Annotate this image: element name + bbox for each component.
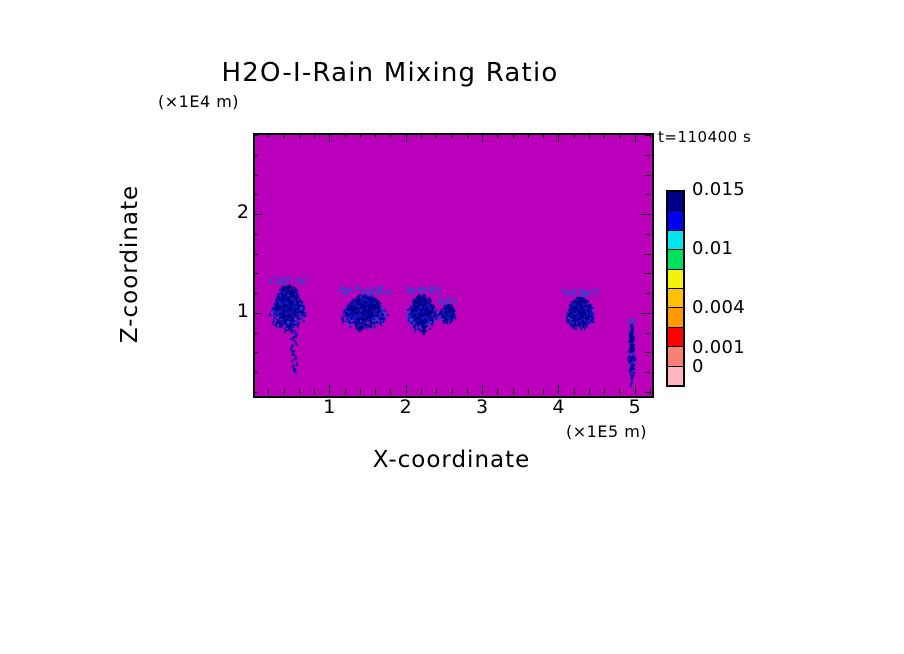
x-tick-minor-top [436, 133, 437, 138]
colorbar-swatch [668, 328, 683, 347]
colorbar-tick-label: 0.015 [692, 179, 745, 200]
y-tick-minor [253, 155, 258, 156]
x-tick-minor [497, 389, 498, 394]
x-axis-title: X-coordinate [253, 447, 650, 473]
x-tick-minor-top [284, 133, 285, 138]
y-tick-minor-right [645, 372, 650, 373]
y-tick-minor [253, 293, 258, 294]
y-tick-minor-right [645, 352, 650, 353]
x-tick-minor-top [497, 133, 498, 138]
x-tick-minor-top [589, 133, 590, 138]
y-tick-minor [253, 175, 258, 176]
x-axis-unit-label: (×1E5 m) [566, 422, 647, 441]
y-tick-major [253, 214, 262, 215]
x-tick-minor-top [421, 133, 422, 138]
y-tick-minor [253, 333, 258, 334]
y-tick-minor-right [645, 175, 650, 176]
colorbar-swatch [668, 367, 683, 385]
colorbar-tick-label: 0.001 [692, 337, 745, 358]
y-tick-minor-right [645, 293, 650, 294]
colorbar [666, 190, 685, 387]
x-tick-minor [314, 389, 315, 394]
x-tick-minor [513, 389, 514, 394]
x-tick-minor-top [619, 133, 620, 138]
colorbar-swatch [668, 270, 683, 289]
x-tick-minor-top [390, 133, 391, 138]
y-axis-title: Z-coordinate [117, 114, 143, 414]
y-tick-minor [253, 254, 258, 255]
colorbar-tick-label: 0 [692, 356, 704, 377]
x-tick-minor [299, 389, 300, 394]
y-tick-minor [253, 372, 258, 373]
colorbar-swatch [668, 347, 683, 366]
timestamp-annotation: t=110400 s [658, 128, 751, 146]
x-tick-minor [452, 389, 453, 394]
x-tick-minor [360, 389, 361, 394]
x-tick-minor [528, 389, 529, 394]
x-tick-minor [268, 389, 269, 394]
x-tick-minor [650, 389, 651, 394]
x-tick-major [482, 385, 483, 394]
x-tick-label: 1 [309, 396, 349, 418]
x-tick-major [635, 385, 636, 394]
x-tick-major-top [329, 133, 330, 142]
x-tick-label: 5 [615, 396, 655, 418]
x-tick-minor [436, 389, 437, 394]
x-tick-minor-top [360, 133, 361, 138]
x-tick-minor-top [268, 133, 269, 138]
x-tick-major-top [635, 133, 636, 142]
x-tick-minor [284, 389, 285, 394]
y-tick-minor [253, 135, 258, 136]
x-tick-minor-top [467, 133, 468, 138]
y-tick-major-right [641, 313, 650, 314]
x-tick-minor [574, 389, 575, 394]
x-tick-major [558, 385, 559, 394]
y-tick-label: 1 [209, 300, 249, 322]
x-tick-minor [390, 389, 391, 394]
y-tick-label: 2 [209, 201, 249, 223]
colorbar-tick-label: 0.01 [692, 238, 733, 259]
x-tick-minor-top [452, 133, 453, 138]
y-axis-unit-label: (×1E4 m) [158, 92, 239, 111]
y-tick-minor [253, 273, 258, 274]
y-tick-minor-right [645, 234, 650, 235]
x-tick-minor [543, 389, 544, 394]
y-tick-minor-right [645, 333, 650, 334]
y-tick-minor-right [645, 392, 650, 393]
x-tick-minor [604, 389, 605, 394]
colorbar-swatch [668, 308, 683, 327]
y-tick-minor-right [645, 194, 650, 195]
x-tick-major-top [558, 133, 559, 142]
colorbar-swatch [668, 289, 683, 308]
x-tick-minor [619, 389, 620, 394]
colorbar-swatch [668, 192, 683, 211]
y-tick-minor [253, 352, 258, 353]
y-tick-minor-right [645, 273, 650, 274]
y-tick-minor-right [645, 254, 650, 255]
x-tick-minor-top [574, 133, 575, 138]
x-tick-minor [345, 389, 346, 394]
colorbar-swatch [668, 231, 683, 250]
y-tick-minor [253, 234, 258, 235]
x-tick-major [329, 385, 330, 394]
colorbar-swatch [668, 211, 683, 230]
x-tick-minor [589, 389, 590, 394]
x-tick-minor [467, 389, 468, 394]
y-tick-minor-right [645, 155, 650, 156]
x-tick-minor-top [299, 133, 300, 138]
x-tick-minor [375, 389, 376, 394]
x-tick-label: 3 [462, 396, 502, 418]
y-tick-minor [253, 194, 258, 195]
x-tick-label: 2 [386, 396, 426, 418]
x-tick-minor-top [314, 133, 315, 138]
heatmap-canvas [255, 135, 652, 396]
x-tick-minor-top [650, 133, 651, 138]
x-tick-minor [421, 389, 422, 394]
plot-area [253, 133, 654, 398]
page-title: H2O-I-Rain Mixing Ratio [0, 58, 780, 88]
x-tick-minor-top [345, 133, 346, 138]
y-tick-major-right [641, 214, 650, 215]
colorbar-tick-label: 0.004 [692, 297, 745, 318]
x-tick-major-top [406, 133, 407, 142]
y-tick-minor [253, 392, 258, 393]
x-tick-minor-top [375, 133, 376, 138]
x-tick-minor-top [513, 133, 514, 138]
y-tick-major [253, 313, 262, 314]
x-tick-major [406, 385, 407, 394]
y-tick-minor-right [645, 135, 650, 136]
x-tick-minor-top [528, 133, 529, 138]
x-tick-minor-top [543, 133, 544, 138]
x-tick-minor-top [604, 133, 605, 138]
colorbar-swatch [668, 250, 683, 269]
x-tick-label: 4 [538, 396, 578, 418]
x-tick-major-top [482, 133, 483, 142]
